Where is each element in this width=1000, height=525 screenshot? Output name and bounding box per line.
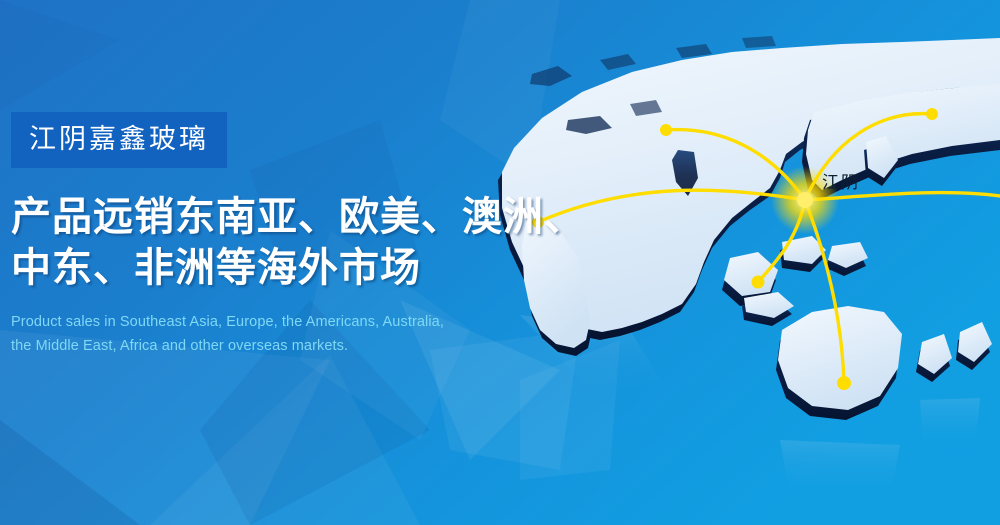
banner-text-block: 江阴嘉鑫玻璃 产品远销东南亚、欧美、澳洲、 中东、非洲等海外市场 Product…	[11, 112, 571, 358]
headline-line-1: 产品远销东南亚、欧美、澳洲、	[11, 192, 571, 243]
landmass-pacific-islands	[916, 322, 992, 382]
subheadline-line-2: the Middle East, Africa and other overse…	[11, 335, 571, 358]
endpoint-australia	[837, 376, 851, 390]
subheadline-line-1: Product sales in Southeast Asia, Europe,…	[11, 311, 571, 334]
headline: 产品远销东南亚、欧美、澳洲、 中东、非洲等海外市场	[11, 192, 571, 294]
city-label-jiangyin: 江阴	[822, 168, 860, 193]
brand-badge: 江阴嘉鑫玻璃	[11, 112, 227, 168]
promo-banner: 江阴 江阴嘉鑫玻璃 产品远销东南亚、欧美、澳洲、 中东、非洲等海外市场 Prod…	[0, 0, 1000, 525]
headline-line-2: 中东、非洲等海外市场	[11, 243, 571, 294]
endpoint-north-america-east	[926, 108, 938, 120]
endpoint-southeast-asia	[752, 276, 765, 289]
subheadline: Product sales in Southeast Asia, Europe,…	[11, 311, 571, 358]
endpoint-northern-europe	[660, 124, 672, 136]
